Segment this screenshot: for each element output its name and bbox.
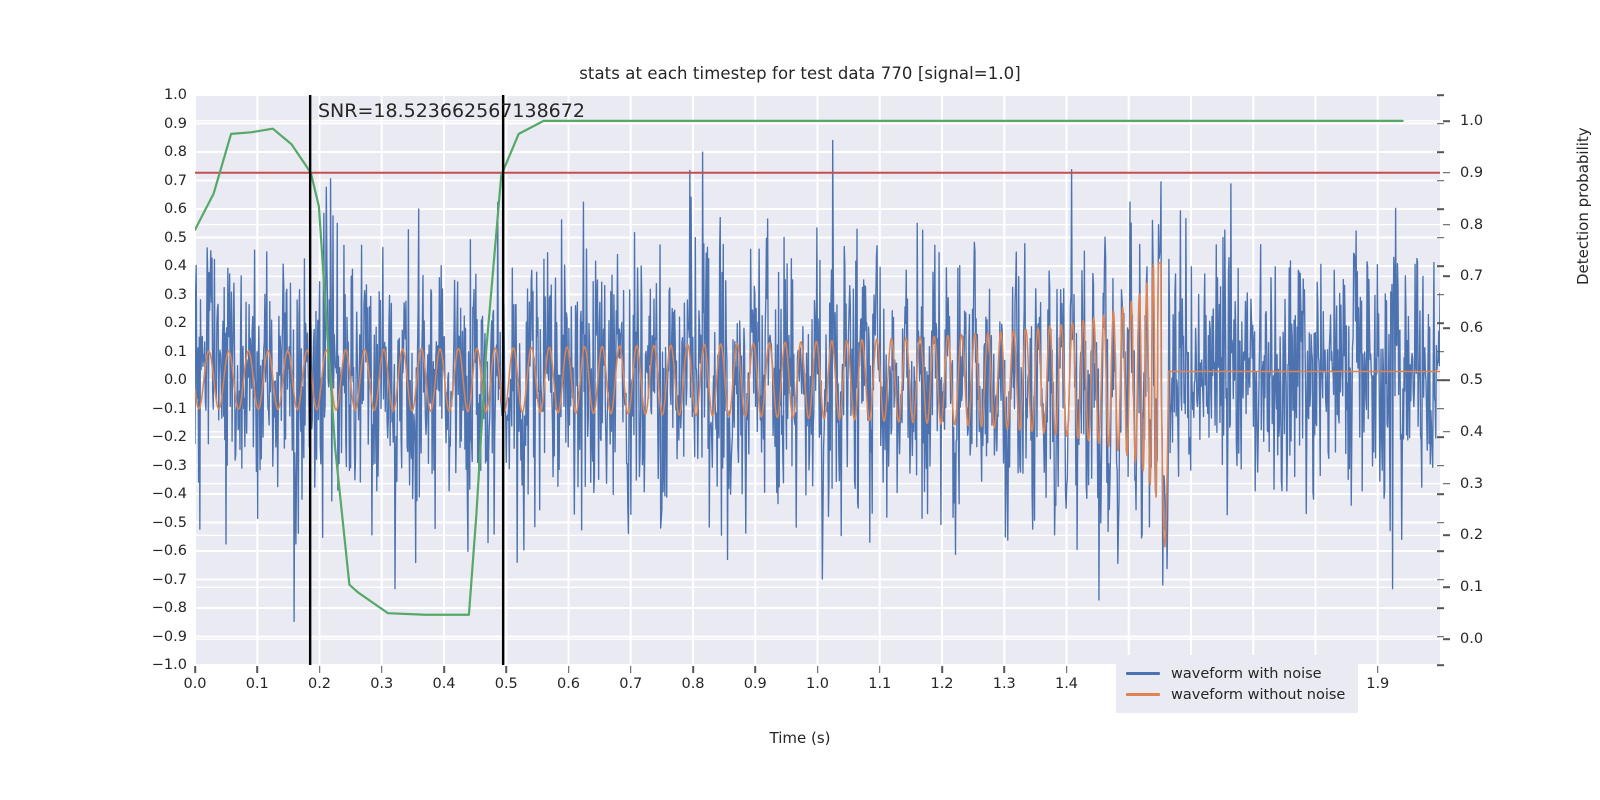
x-tick-mark [1003, 666, 1005, 673]
x-axis-tick: 1.3 [993, 676, 1016, 692]
x-axis-tick: 1.2 [930, 676, 953, 692]
y-axis-tick-left: −1.0 [152, 657, 187, 673]
y-axis-tick-right: 0.5 [1460, 372, 1483, 388]
figure: stats at each timestep for test data 770… [0, 0, 1600, 800]
y-tick-mark-left [1437, 180, 1444, 182]
y-axis-tick-left: −0.8 [152, 600, 187, 616]
legend-label: waveform with noise [1171, 666, 1322, 682]
x-tick-mark [194, 666, 196, 673]
y-axis-tick-right: 0.2 [1460, 527, 1483, 543]
x-tick-mark [1066, 666, 1068, 673]
y-axis-tick-left: −0.3 [152, 458, 187, 474]
y-axis-tick-left: 1.0 [164, 87, 187, 103]
y-axis-tick-left: 0.7 [164, 173, 187, 189]
x-tick-mark [1377, 666, 1379, 673]
y-tick-mark-left [1437, 265, 1444, 267]
y-tick-mark-left [1437, 607, 1444, 609]
x-axis-tick: 0.0 [183, 676, 206, 692]
y-tick-mark-left [1437, 664, 1444, 666]
y-tick-mark-right [1443, 483, 1450, 485]
y-axis-label-right: Detection probability [1574, 127, 1592, 285]
x-tick-mark [754, 666, 756, 673]
x-axis-tick: 0.2 [308, 676, 331, 692]
y-axis-tick-right: 0.9 [1460, 165, 1483, 181]
x-tick-mark [879, 666, 881, 673]
x-tick-mark [692, 666, 694, 673]
x-axis-tick: 0.4 [432, 676, 455, 692]
y-axis-tick-left: 0.2 [164, 315, 187, 331]
y-axis-tick-left: 0.4 [164, 258, 187, 274]
y-axis-tick-right: 0.6 [1460, 320, 1483, 336]
x-axis-label: Time (s) [0, 729, 1600, 747]
x-tick-mark [568, 666, 570, 673]
legend-item-waveform-with-noise[interactable]: waveform with noise [1126, 663, 1345, 684]
y-tick-mark-right [1443, 172, 1450, 174]
y-tick-mark-left [1437, 208, 1444, 210]
y-tick-mark-right [1443, 327, 1450, 329]
y-axis-tick-left: −0.6 [152, 543, 187, 559]
x-axis-tick: 1.9 [1366, 676, 1389, 692]
y-axis-tick-left: 0.9 [164, 116, 187, 132]
y-axis-tick-left: −0.2 [152, 429, 187, 445]
y-tick-mark-right [1443, 586, 1450, 588]
x-tick-mark [256, 666, 258, 673]
chart-title: stats at each timestep for test data 770… [0, 64, 1600, 83]
y-tick-mark-left [1437, 522, 1444, 524]
x-axis-tick: 1.0 [806, 676, 829, 692]
x-tick-mark [630, 666, 632, 673]
legend-swatch-blue [1126, 672, 1160, 675]
x-axis-tick: 0.1 [246, 676, 269, 692]
x-axis-tick: 0.8 [681, 676, 704, 692]
legend-item-waveform-without-noise[interactable]: waveform without noise [1126, 684, 1345, 705]
y-tick-mark-left [1437, 436, 1444, 438]
y-tick-mark-left [1437, 636, 1444, 638]
y-axis-tick-left: −0.7 [152, 572, 187, 588]
y-tick-mark-right [1443, 120, 1450, 122]
x-tick-mark [505, 666, 507, 673]
y-axis-tick-left: −0.5 [152, 515, 187, 531]
y-axis-tick-left: 0.5 [164, 230, 187, 246]
y-axis-tick-right: 0.0 [1460, 631, 1483, 647]
y-axis-tick-right: 0.7 [1460, 268, 1483, 284]
y-axis-tick-left: −0.9 [152, 629, 187, 645]
x-axis-tick: 0.7 [619, 676, 642, 692]
y-axis-tick-right: 0.4 [1460, 424, 1483, 440]
x-axis-tick: 0.9 [744, 676, 767, 692]
legend-label: waveform without noise [1171, 687, 1345, 703]
x-tick-mark [319, 666, 321, 673]
y-axis-tick-left: 0.1 [164, 344, 187, 360]
y-tick-mark-right [1443, 535, 1450, 537]
x-tick-mark [443, 666, 445, 673]
x-axis-tick: 0.3 [370, 676, 393, 692]
y-axis-tick-left: −0.1 [152, 401, 187, 417]
y-tick-mark-left [1437, 237, 1444, 239]
y-tick-mark-right [1443, 276, 1450, 278]
y-axis-tick-left: −0.4 [152, 486, 187, 502]
y-tick-mark-left [1437, 465, 1444, 467]
legend[interactable]: waveform with noise waveform without noi… [1116, 655, 1358, 713]
y-tick-mark-left [1437, 351, 1444, 353]
y-axis-tick-left: 0.6 [164, 201, 187, 217]
x-axis-tick: 1.4 [1055, 676, 1078, 692]
y-axis-tick-left: 0.3 [164, 287, 187, 303]
y-tick-mark-left [1437, 123, 1444, 125]
plot-area [195, 95, 1440, 665]
data-layer [195, 95, 1440, 665]
y-axis-tick-right: 0.1 [1460, 579, 1483, 595]
y-tick-mark-left [1437, 550, 1444, 552]
y-tick-mark-left [1437, 579, 1444, 581]
y-tick-mark-right [1443, 431, 1450, 433]
legend-swatch-orange [1126, 693, 1160, 696]
y-tick-mark-left [1437, 493, 1444, 495]
y-tick-mark-right [1443, 638, 1450, 640]
y-tick-mark-right [1443, 379, 1450, 381]
snr-annotation: SNR=18.523662567138672 [318, 100, 585, 122]
y-tick-mark-left [1437, 94, 1444, 96]
y-tick-mark-left [1437, 294, 1444, 296]
y-tick-mark-left [1437, 151, 1444, 153]
x-axis-tick: 0.5 [495, 676, 518, 692]
x-axis-tick: 1.1 [868, 676, 891, 692]
y-tick-mark-right [1443, 224, 1450, 226]
x-tick-mark [381, 666, 383, 673]
y-axis-tick-right: 0.3 [1460, 476, 1483, 492]
x-axis-tick: 0.6 [557, 676, 580, 692]
y-tick-mark-left [1437, 408, 1444, 410]
y-tick-mark-left [1437, 322, 1444, 324]
y-axis-tick-right: 0.8 [1460, 217, 1483, 233]
x-tick-mark [941, 666, 943, 673]
y-axis-tick-left: 0.8 [164, 144, 187, 160]
y-axis-tick-left: 0.0 [164, 372, 187, 388]
y-axis-tick-right: 1.0 [1460, 113, 1483, 129]
x-tick-mark [817, 666, 819, 673]
